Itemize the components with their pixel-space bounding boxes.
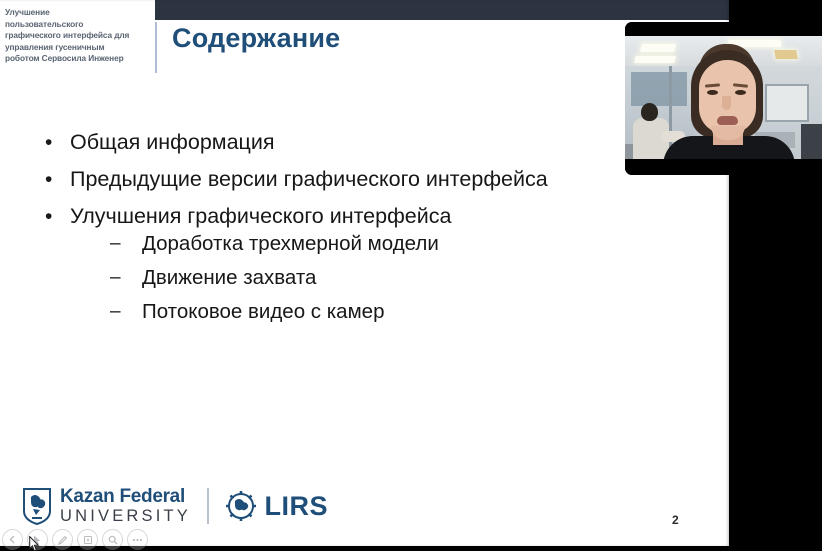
video-letterbox-bottom	[625, 159, 822, 175]
screen-root: Улучшение пользовательского графического…	[0, 0, 822, 551]
bullet-label: Предыдущие версии графического интерфейс…	[70, 166, 548, 193]
chevron-left-icon	[8, 535, 17, 544]
page-title: Содержание	[172, 23, 340, 54]
speaker-eye-left	[707, 90, 718, 95]
video-scene	[625, 36, 822, 159]
more-options-button[interactable]	[127, 529, 148, 550]
bullet-marker-icon: •	[40, 203, 70, 230]
logo-separator	[207, 488, 209, 524]
bullet-list: • Общая информация • Предыдущие версии г…	[40, 129, 680, 240]
bullet-marker-icon: •	[40, 166, 70, 193]
list-item: – Доработка трехмерной модели	[110, 231, 670, 257]
dash-marker-icon: –	[110, 231, 142, 257]
zoom-tool-button[interactable]	[102, 529, 123, 550]
magnifier-icon	[108, 535, 118, 545]
pen-icon	[58, 535, 68, 545]
presentation-slide[interactable]: Улучшение пользовательского графического…	[0, 0, 729, 546]
kfu-name-line2: UNIVERSITY	[60, 508, 191, 525]
video-letterbox-top	[625, 22, 822, 36]
list-item: • Предыдущие версии графического интерфе…	[40, 166, 680, 193]
ceiling-lamp	[634, 56, 676, 63]
bullet-marker-icon: •	[40, 129, 70, 156]
speaker-mouth	[717, 116, 738, 125]
whiteboard	[765, 84, 809, 122]
sub-bullet-list: – Доработка трехмерной модели – Движение…	[110, 231, 670, 333]
dash-marker-icon: –	[110, 299, 142, 325]
ellipsis-icon	[132, 538, 143, 542]
lirs-wordmark: LIRS	[265, 491, 329, 522]
list-item: • Общая информация	[40, 129, 680, 156]
background-person-head	[641, 103, 658, 121]
list-item: – Потоковое видео с камер	[110, 299, 670, 325]
mouse-cursor-icon	[29, 536, 40, 551]
bullet-label: Улучшения графического интерфейса	[70, 203, 451, 230]
kfu-crest-icon	[22, 487, 52, 525]
ceiling-lamp	[774, 50, 798, 59]
sub-bullet-label: Потоковое видео с камер	[142, 299, 384, 325]
header-line-5: роботом Сервосила Инженер	[5, 53, 151, 65]
header-line-2: пользовательского	[5, 19, 151, 31]
slide-header-subtitle: Улучшение пользовательского графического…	[5, 7, 151, 65]
page-number: 2	[672, 513, 679, 527]
sub-bullet-label: Доработка трехмерной модели	[142, 231, 439, 257]
speaker-eye-right	[735, 90, 746, 95]
speaker-nose	[722, 96, 731, 110]
bullet-label: Общая информация	[70, 129, 275, 156]
list-item: – Движение захвата	[110, 265, 670, 291]
header-line-4: управления гусеничным	[5, 42, 151, 54]
sub-bullet-label: Движение захвата	[142, 265, 316, 291]
kfu-wordmark: Kazan Federal UNIVERSITY	[60, 487, 191, 525]
footer-logos: Kazan Federal UNIVERSITY	[22, 484, 328, 528]
lirs-logo: LIRS	[223, 488, 329, 524]
header-line-3: графического интерфейса для	[5, 30, 151, 42]
pen-tool-button[interactable]	[52, 529, 73, 550]
header-divider-line	[155, 22, 157, 73]
kfu-name-line1: Kazan Federal	[60, 487, 191, 506]
stamp-icon	[83, 535, 93, 545]
header-line-1: Улучшение	[5, 7, 151, 19]
webcam-video-tile[interactable]	[625, 22, 822, 175]
previous-slide-button[interactable]	[2, 529, 23, 550]
ceiling-lamp	[640, 44, 676, 52]
list-item: • Улучшения графического интерфейса	[40, 203, 680, 230]
gear-icon	[223, 488, 259, 524]
slide-top-bar	[155, 0, 729, 20]
dash-marker-icon: –	[110, 265, 142, 291]
office-cabinet	[801, 124, 822, 159]
glass-partition	[631, 72, 687, 106]
pdf-viewer-toolbar[interactable]	[2, 529, 148, 550]
stamp-tool-button[interactable]	[77, 529, 98, 550]
